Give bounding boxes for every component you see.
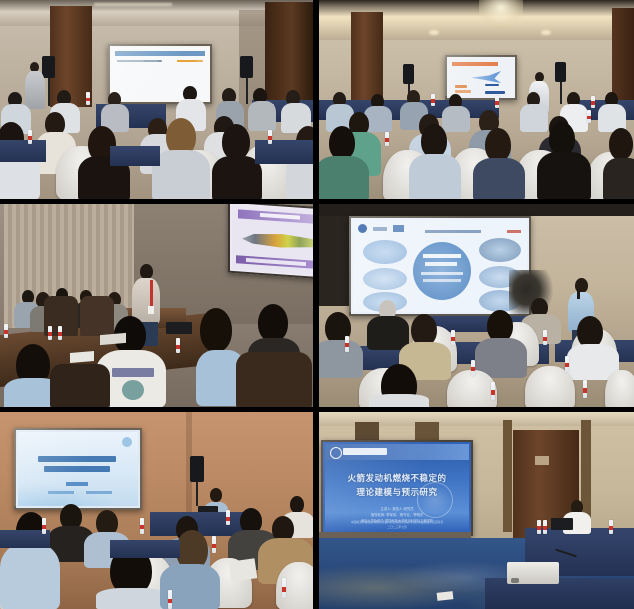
speaker-stand-right [560,82,562,104]
screen-glare [349,216,527,312]
ceiling-downlight [429,30,439,35]
water-bottle [491,382,495,400]
conference-room-scene: 火箭发动机燃烧不稳定的 理论建模与预示研究 主讲人: 报告人 研究员 指导老师:… [319,412,634,609]
water-bottle [4,324,8,338]
audience-head [290,496,304,513]
water-bottle [168,590,172,609]
attendee-head-foreground [258,304,288,342]
door-sign [535,456,549,465]
audience-head [485,128,511,162]
panel-bottom-right: 火箭发动机燃烧不稳定的 理论建模与预示研究 主讲人: 报告人 研究员 指导老师:… [319,412,634,609]
audience-body [248,101,276,131]
banquet-chair [605,370,634,407]
presenter-body [25,71,45,109]
slide-content [232,205,313,275]
speaker-stand [196,482,198,506]
photo-collage: 火箭发动机燃烧不稳定的 理论建模与预示研究 主讲人: 报告人 研究员 指导老师:… [0,0,634,605]
document-in-hand [229,558,258,581]
projector-lens-icon [511,578,519,583]
water-bottle [565,356,569,372]
audience-body-foreground [96,588,168,609]
water-bottle [28,130,32,144]
water-bottle [140,518,144,534]
loudspeaker-right [555,62,566,82]
office-chair-foreground [50,364,110,407]
ballroom-scene [319,0,634,199]
water-bottle [451,330,455,345]
wall-pilaster [503,420,512,532]
audience-body [520,104,548,132]
water-bottle [86,92,90,105]
audience-body [603,158,634,199]
slide-graphic-aircraft-cutaway [242,228,313,253]
office-chair [80,296,114,336]
water-bottle [282,578,286,598]
presenter-badge [148,306,154,314]
presenter-lanyard [150,280,153,308]
water-bottle [471,360,475,376]
ceiling-dark [319,204,634,216]
conference-room-scene [319,204,634,407]
audience-head [609,128,633,160]
water-bottle [58,326,62,340]
meeting-room-scene [0,204,313,407]
water-bottle [226,510,230,525]
loudspeaker [190,456,204,482]
conference-room-scene [0,0,313,199]
audience-table [0,140,46,162]
loudspeaker-left [42,56,55,78]
audience-body [473,158,525,199]
audience-table [110,540,180,558]
audience-body [367,316,409,350]
water-bottle [609,520,613,534]
water-bottle [176,338,180,353]
panel-middle-right [319,204,634,407]
water-bottle [583,380,587,398]
audience-body [319,156,369,199]
chandelier [479,0,523,26]
water-bottle [212,536,216,553]
water-bottle [495,96,499,108]
water-bottle [543,520,547,534]
speaker-stand-right [246,78,248,104]
wood-door-left [351,12,383,104]
jacket-print-graphic [122,380,144,400]
audience-body [537,152,591,199]
water-bottle [537,520,541,534]
water-bottle [587,110,591,123]
loudspeaker-right [240,56,253,78]
panel-middle-left [0,204,313,407]
attendee-head-foreground [200,308,232,352]
water-bottle [591,96,595,108]
audience-body [409,154,461,199]
water-bottle [543,330,547,345]
audience-body-foreground [369,394,429,407]
audience-body [319,340,363,378]
loudspeaker-left [403,64,414,84]
conference-room-scene [0,412,313,609]
screen-glare [14,428,138,506]
wall-niche [319,216,349,306]
water-bottle [345,336,349,352]
audience-head [549,122,575,156]
paper-on-table [70,351,94,363]
presenter-microphone [577,290,580,299]
office-chair-foreground [236,352,312,407]
projection-screen [228,204,313,279]
water-bottle [48,326,52,340]
audience-head [222,124,250,160]
audience-body [152,150,210,199]
water-bottle [268,130,272,144]
laptop [551,518,573,530]
jacket-print-text [112,368,154,377]
chairperson-head [210,488,222,502]
banquet-chair [525,366,575,407]
audience-body-foreground [0,544,60,609]
laptop [166,322,192,334]
speaker-stand-left [48,78,50,106]
panel-top-right [319,0,634,199]
audience-table [110,146,160,166]
audience-head [329,126,355,160]
audience-head [421,124,447,158]
screen-glare [321,440,469,532]
ceiling-light-strip [94,3,172,6]
paper-on-floor [437,591,454,601]
screen-glare [445,55,513,96]
panel-top-left [0,0,313,199]
water-bottle [431,94,435,106]
panel-bottom-left [0,412,313,609]
audience-table [255,140,313,164]
water-bottle [385,132,389,146]
ceiling-downlight [541,30,551,35]
water-bottle [42,518,46,534]
presenter-head [140,264,153,279]
audience-body [442,106,470,132]
